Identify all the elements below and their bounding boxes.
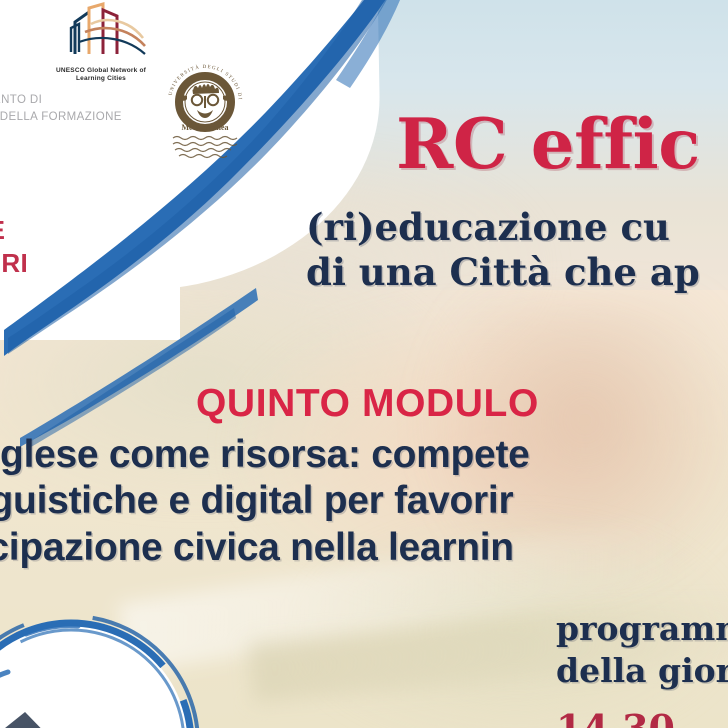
brush-circle-frame [0,612,230,728]
programme-time: 14.30 [556,706,675,728]
department-line1: TIMENTO DI [0,92,152,109]
mediterranea-seal-icon: UNIVERSITÀ DEGLI STUDI DI REGGIO CALABRI… [157,58,253,162]
subtitle-line1: (ri)educazione cu [306,205,700,250]
page-title: RC effic [396,104,700,185]
department-line2: NZE DELLA FORMAZIONE [0,109,152,126]
module-line3: ecipazione civica nella learnin [0,525,530,571]
programme-line2: della giorn [556,650,728,692]
module-label: QUINTO MODULO [196,382,539,426]
programme-line1: programm [556,608,728,650]
seal-bottom-text: Mediterranea [181,123,228,132]
left-caption-line2: ATORI [0,247,28,280]
module-description: inglese come risorsa: compete nguistiche… [0,432,530,571]
module-line1: inglese come risorsa: compete [0,432,530,478]
subtitle-line2: di una Città che ap [306,250,700,295]
unesco-caption-line1: UNESCO Global Network of [45,67,157,75]
programme-heading: programm della giorn [556,608,728,692]
left-red-caption: ONE ATORI [0,214,28,279]
unesco-logo: UNESCO Global Network of Learning Cities [45,2,157,86]
left-caption-line1: ONE [0,214,28,247]
department-text: TIMENTO DI NZE DELLA FORMAZIONE [0,92,152,125]
brush-circle-icon [0,612,230,728]
module-line2: nguistiche e digital per favorir [0,478,530,524]
page-subtitle: (ri)educazione cu di una Città che ap [306,205,700,295]
university-seal: UNIVERSITÀ DEGLI STUDI DI REGGIO CALABRI… [157,58,253,162]
unesco-learning-cities-icon [45,2,157,60]
poster-root: UNESCO Global Network of Learning Cities [0,0,728,728]
unesco-caption-line2: Learning Cities [45,75,157,83]
